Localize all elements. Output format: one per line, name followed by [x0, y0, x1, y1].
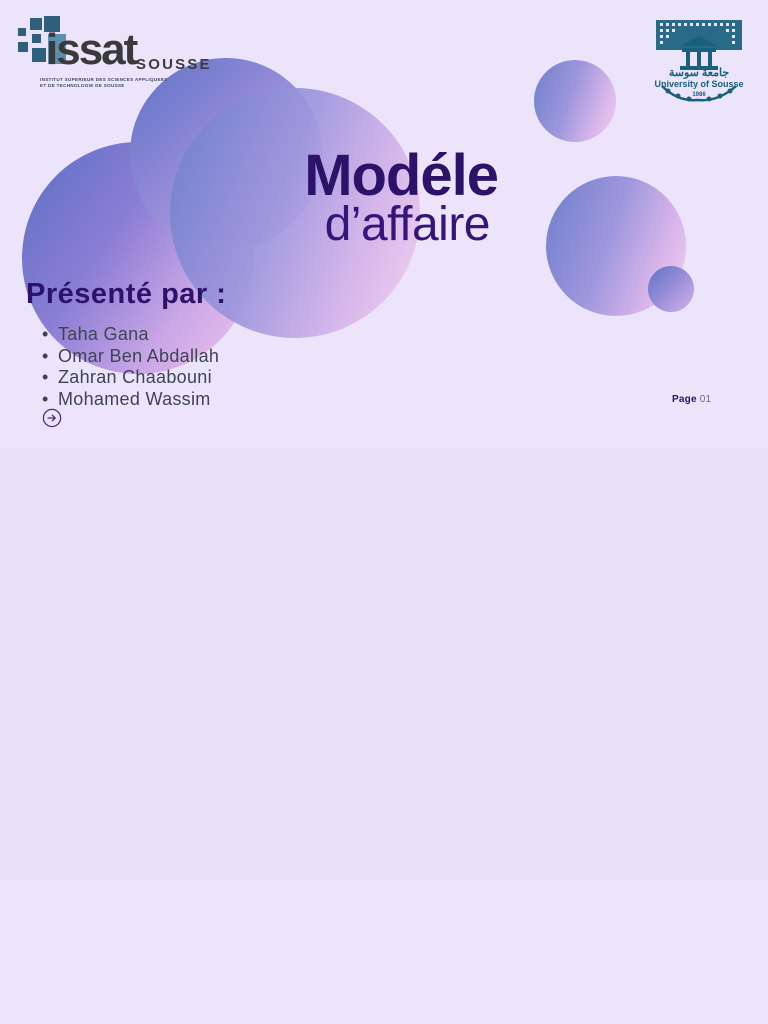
page-title: Modéle [0, 148, 730, 205]
page-number: 01 [700, 394, 712, 405]
decorative-circle-top-right [534, 60, 616, 142]
list-item: Zahran Chaabouni [42, 367, 219, 388]
presentation-deck: issat SOUSSE INSTITUT SUPERIEUR DES SCIE… [0, 0, 768, 1024]
issat-subtitle-line-2: ET DE TECHNOLOGIE DE SOUSSE [40, 83, 206, 89]
list-item: Omar Ben Abdallah [42, 346, 219, 367]
circled-arrow-right-icon[interactable] [42, 408, 62, 428]
page-label: Page [672, 394, 697, 405]
svg-text:1986: 1986 [692, 92, 706, 98]
university-seal-svg: جامعة سوسة University of Sousse 1986 [648, 14, 750, 106]
issat-city-label: SOUSSE [136, 56, 212, 73]
presenter-list: Taha Gana Omar Ben Abdallah Zahran Chaab… [42, 324, 219, 410]
university-of-sousse-logo: جامعة سوسة University of Sousse 1986 [648, 14, 750, 106]
list-item: Taha Gana [42, 324, 219, 345]
page-subtitle: d’affaire [0, 201, 730, 250]
decorative-circle-right-small [648, 266, 694, 312]
slide-summary: sommaire: Introduction définition object… [0, 448, 768, 880]
list-item: Mohamed Wassim [42, 389, 219, 410]
svg-text:issat: issat [46, 25, 139, 74]
svg-text:University of Sousse: University of Sousse [654, 79, 743, 89]
svg-text:جامعة سوسة: جامعة سوسة [669, 67, 730, 79]
slide-introduction: introduction : Dans un environnement éco… [0, 880, 768, 1024]
title-block: Modéle d’affaire [0, 148, 730, 250]
page-marker-01: Page 01 [672, 394, 711, 405]
issat-logo: issat SOUSSE INSTITUT SUPERIEUR DES SCIE… [16, 12, 206, 90]
presented-by-heading: Présenté par : [26, 278, 226, 311]
slide-title: issat SOUSSE INSTITUT SUPERIEUR DES SCIE… [0, 0, 768, 448]
